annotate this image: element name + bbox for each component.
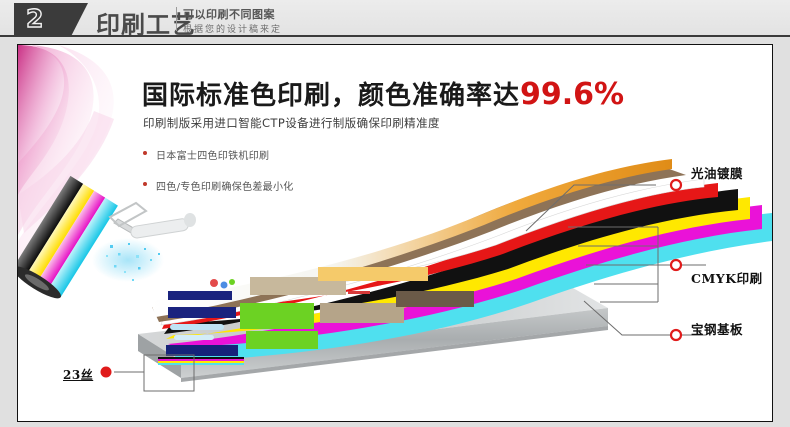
header-divider <box>176 7 177 31</box>
section-number-text: 2 <box>26 4 43 33</box>
marker-cmyk <box>671 260 681 270</box>
page-header: 2 印刷工艺 可以印刷不同图案 根据您的设计稿来定 <box>0 0 790 38</box>
callout-label-substrate: 宝钢基板 <box>691 319 743 338</box>
callout-label-varnish: 光油镀膜 <box>691 163 743 182</box>
marker-substrate <box>671 330 681 340</box>
ink-spray-particles <box>92 238 164 282</box>
header-rule-thick <box>0 35 790 37</box>
section-number-badge: 2 <box>14 3 88 35</box>
page-root: 2 印刷工艺 可以印刷不同图案 根据您的设计稿来定 <box>0 0 790 427</box>
content-card: 国际标准色印刷，颜色准确率达99.6% 印刷制版采用进口智能CTP设备进行制版确… <box>17 44 773 422</box>
callout-label-thickness: 23丝 <box>63 366 93 383</box>
header-subtitle-bottom: 根据您的设计稿来定 <box>183 22 282 35</box>
callout-label-cmyk: CMYK印刷 <box>691 268 763 287</box>
page-title: 印刷工艺 <box>96 5 196 38</box>
marker-varnish <box>671 180 681 190</box>
marker-thickness <box>101 367 112 378</box>
printing-layers-illustration <box>18 45 772 421</box>
header-subtitle-top: 可以印刷不同图案 <box>183 6 275 22</box>
